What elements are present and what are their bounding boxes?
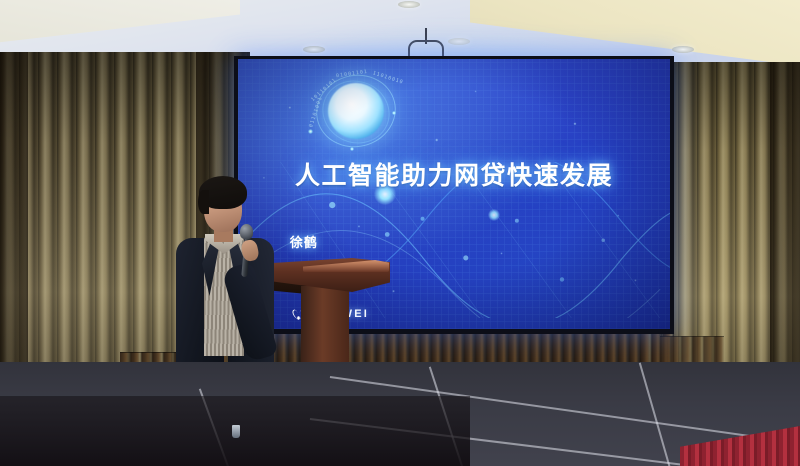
downlight-2 [303,46,325,53]
downlight-3 [398,1,420,8]
water-glass [232,425,240,438]
stage-grid-line-4 [639,363,676,466]
presentation-photo-scene: 01101001 10110101 01001101 11010010 [0,0,800,466]
hair-sideburn [198,190,209,214]
downlight-6 [448,38,470,45]
stage-floor [0,362,800,466]
microphone-head [240,224,253,239]
slide-speaker-name: 徐鹤 [290,232,318,251]
slide-title: 人工智能助力网贷快速发展 [238,156,670,192]
red-stage-skirt [680,426,800,466]
downlight-4 [672,46,694,53]
